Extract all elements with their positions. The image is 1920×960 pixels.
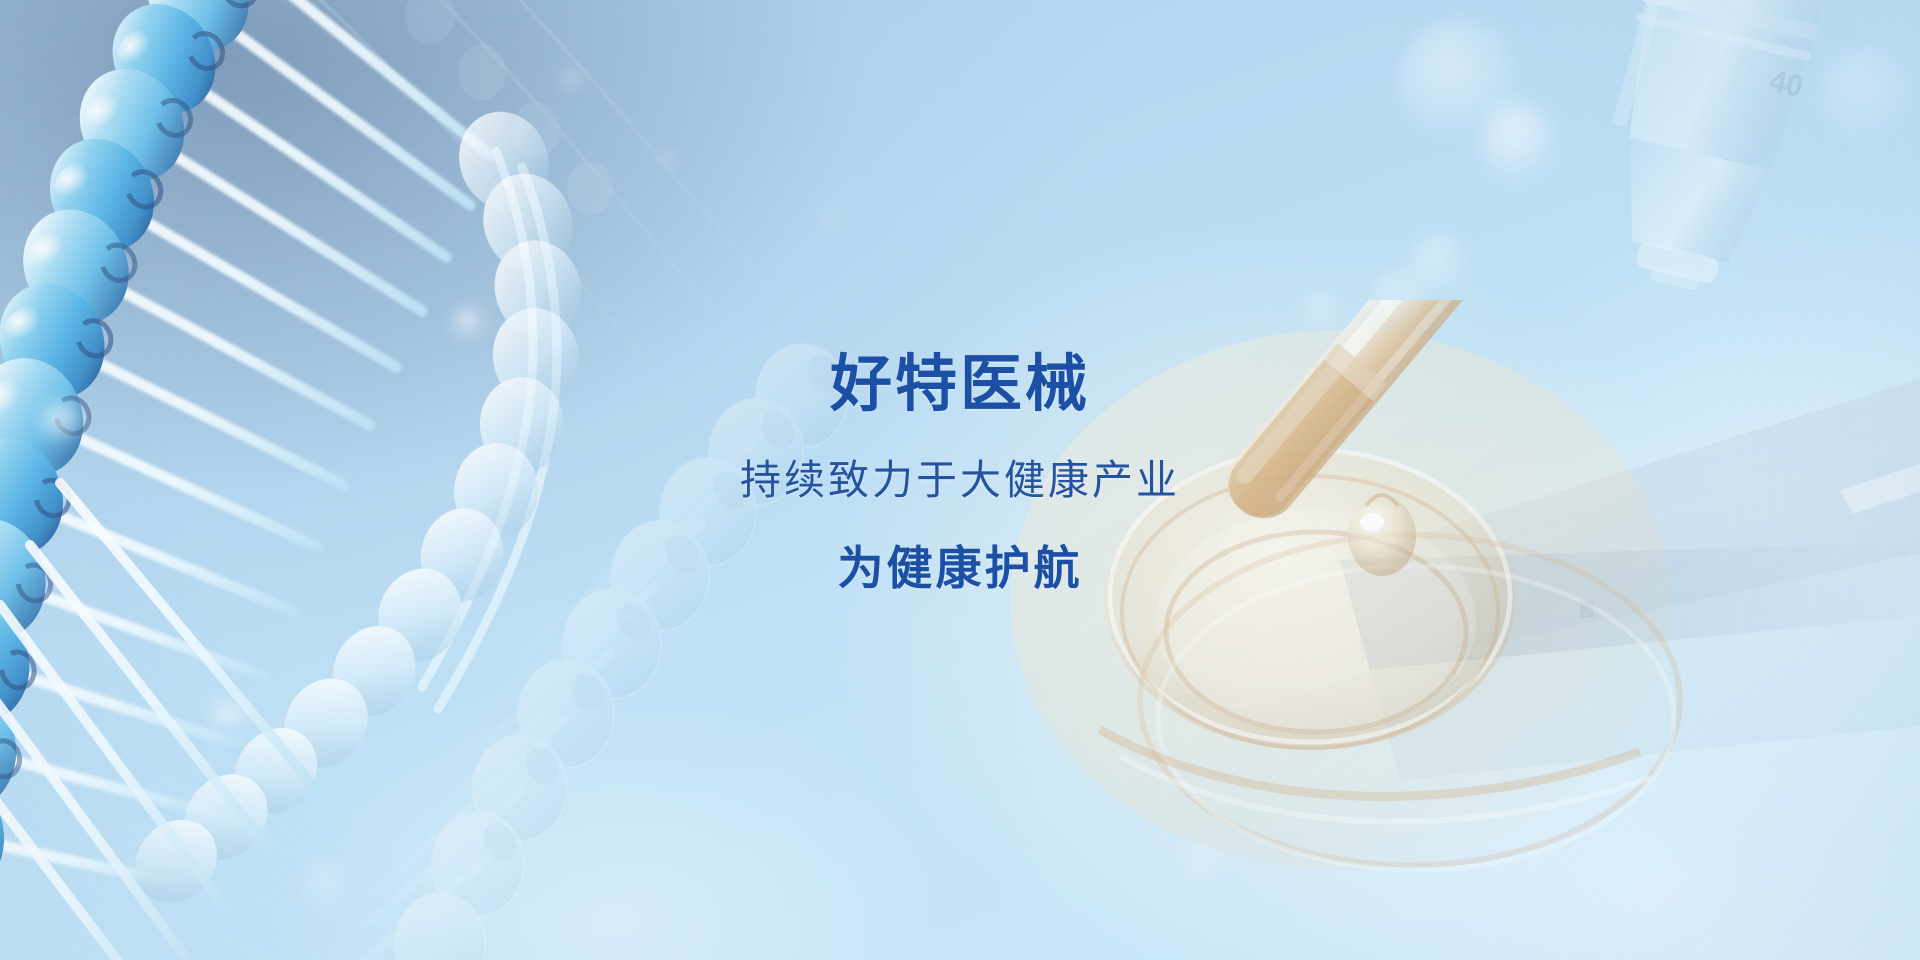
bokeh-dot [560,68,586,94]
bokeh-dot [300,860,354,914]
hero-banner: 40 [0,0,1920,960]
hero-slogan: 为健康护航 [0,543,1920,594]
hero-subheadline: 持续致力于大健康产业 [0,458,1920,503]
bokeh-dot [224,702,250,728]
page-title: 好特医械 [0,352,1920,418]
bokeh-dot [660,150,680,170]
bokeh-dot [209,700,239,730]
bokeh-dot [820,210,842,232]
hero-copy-block: 好特医械 持续致力于大健康产业 为健康护航 [0,352,1920,593]
bokeh-dot [452,306,486,340]
